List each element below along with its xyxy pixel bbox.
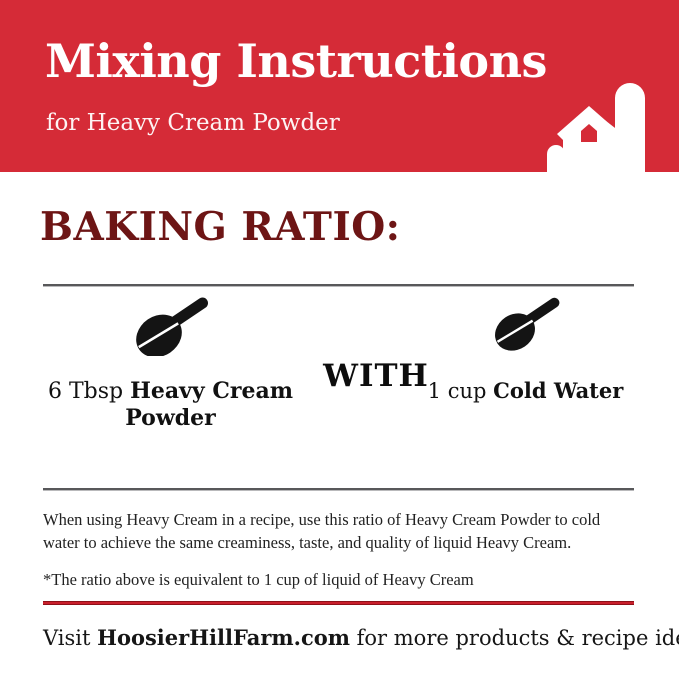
divider-top [43, 284, 634, 286]
ratio-row: 6 Tbsp Heavy Cream Powder WITH 1 cup Col… [43, 296, 634, 476]
ratio-item-water: 1 cup Cold Water [413, 296, 638, 404]
footer-website-link[interactable]: HoosierHillFarm.com [97, 625, 350, 650]
page-title: Mixing Instructions [45, 35, 547, 87]
footer-text: Visit HoosierHillFarm.com for more produ… [43, 624, 634, 652]
ratio-name-powder: Heavy Cream Powder [125, 378, 293, 431]
footer-prefix: Visit [43, 626, 97, 650]
paragraph-footnote: *The ratio above is equivalent to 1 cup … [43, 568, 634, 591]
ratio-amount-water: 1 cup [428, 379, 493, 403]
ratio-name-water: Cold Water [493, 378, 623, 403]
body-copy: When using Heavy Cream in a recipe, use … [43, 508, 634, 591]
divider-footer-red [43, 601, 634, 605]
measuring-spoon-icon [413, 296, 638, 362]
divider-middle [43, 488, 634, 490]
main-content: BAKING RATIO: 6 Tbsp Heavy Cream Powder … [0, 172, 679, 679]
paragraph-description: When using Heavy Cream in a recipe, use … [43, 508, 634, 554]
ratio-label-powder: 6 Tbsp Heavy Cream Powder [43, 378, 298, 432]
ratio-item-powder: 6 Tbsp Heavy Cream Powder [43, 296, 298, 432]
page-subtitle: for Heavy Cream Powder [46, 108, 340, 138]
footer-suffix: for more products & recipe ideas. [350, 626, 679, 650]
measuring-spoon-icon [43, 296, 298, 362]
barn-silo-icon [541, 76, 661, 172]
ratio-label-water: 1 cup Cold Water [413, 378, 638, 404]
section-heading-baking-ratio: BAKING RATIO: [40, 204, 401, 250]
ratio-amount-powder: 6 Tbsp [48, 379, 130, 404]
header-banner: Mixing Instructions for Heavy Cream Powd… [0, 0, 679, 172]
